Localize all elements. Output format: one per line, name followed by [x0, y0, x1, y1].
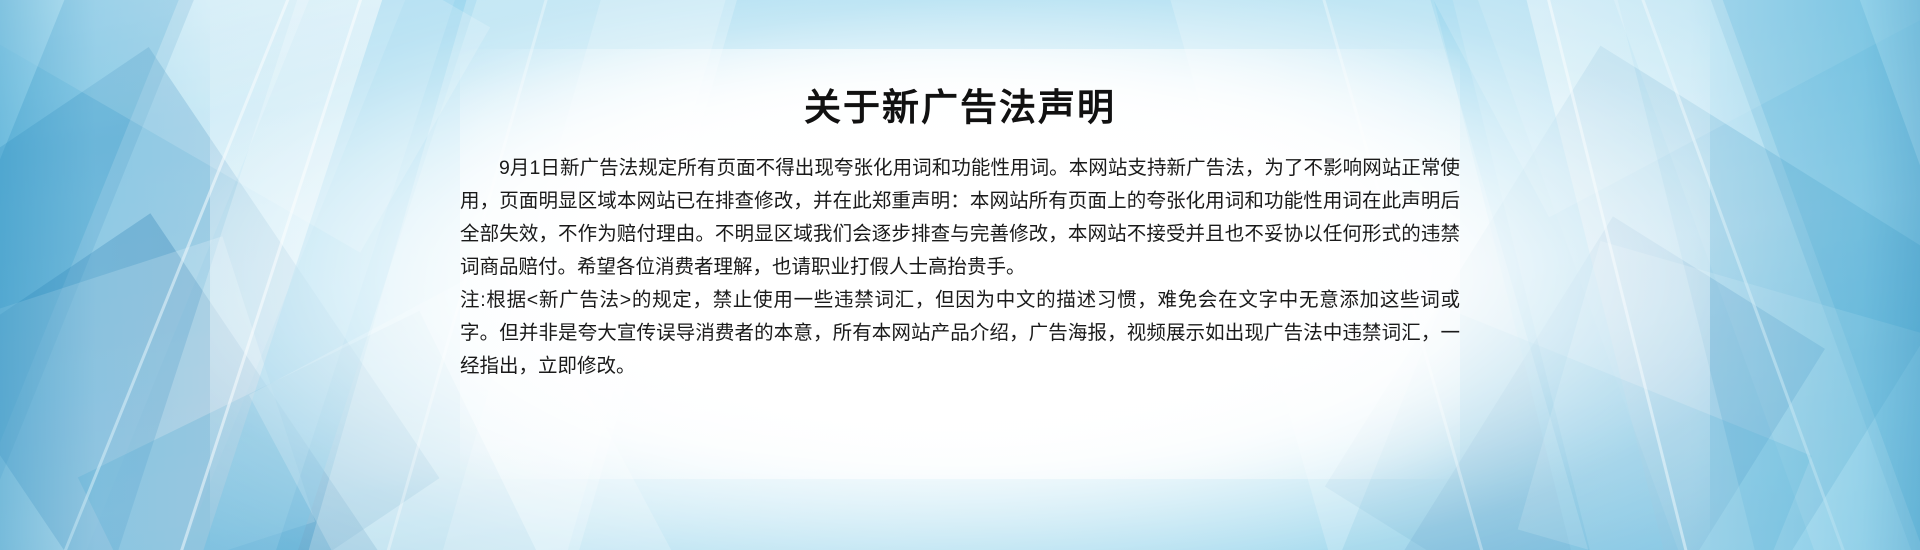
- page-title: 关于新广告法声明: [460, 0, 1460, 130]
- statement-paragraph-1: 9月1日新广告法规定所有页面不得出现夸张化用词和功能性用词。本网站支持新广告法，…: [460, 152, 1460, 284]
- advertising-law-statement-banner: 关于新广告法声明 9月1日新广告法规定所有页面不得出现夸张化用词和功能性用词。本…: [0, 0, 1920, 550]
- statement-paragraph-2: 注:根据<新广告法>的规定，禁止使用一些违禁词汇，但因为中文的描述习惯，难免会在…: [460, 284, 1460, 383]
- statement-content: 关于新广告法声明 9月1日新广告法规定所有页面不得出现夸张化用词和功能性用词。本…: [460, 0, 1460, 550]
- statement-body: 9月1日新广告法规定所有页面不得出现夸张化用词和功能性用词。本网站支持新广告法，…: [460, 152, 1460, 383]
